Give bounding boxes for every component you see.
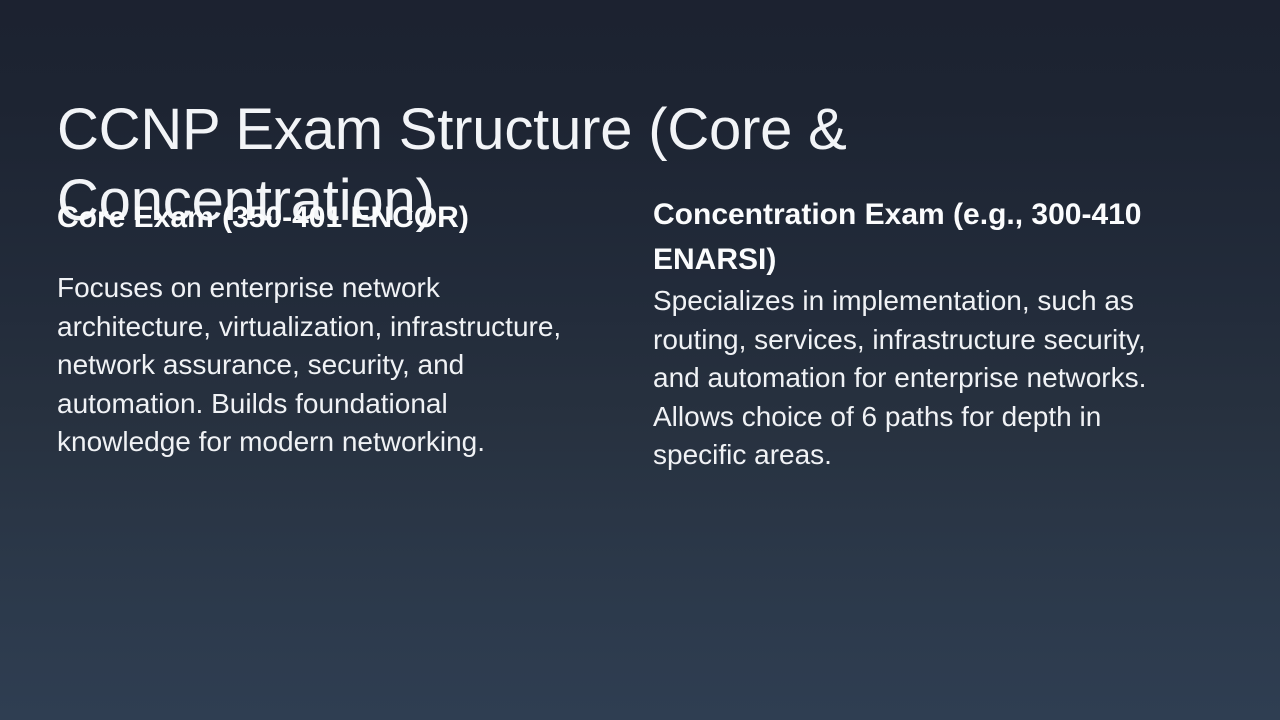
column-core-exam: Core Exam (350-401 ENCOR) Focuses on ent… [57, 186, 577, 462]
two-column-content: Core Exam (350-401 ENCOR) Focuses on ent… [0, 186, 1280, 516]
concentration-exam-description: Specializes in implementation, such as r… [653, 282, 1168, 475]
column-concentration-exam: Concentration Exam (e.g., 300-410 ENARSI… [653, 186, 1168, 475]
concentration-exam-heading: Concentration Exam (e.g., 300-410 ENARSI… [653, 186, 1168, 282]
core-exam-description: Focuses on enterprise network architectu… [57, 269, 577, 462]
presentation-slide: CCNP Exam Structure (Core & Concentratio… [0, 0, 1280, 720]
core-exam-heading: Core Exam (350-401 ENCOR) [57, 186, 577, 240]
